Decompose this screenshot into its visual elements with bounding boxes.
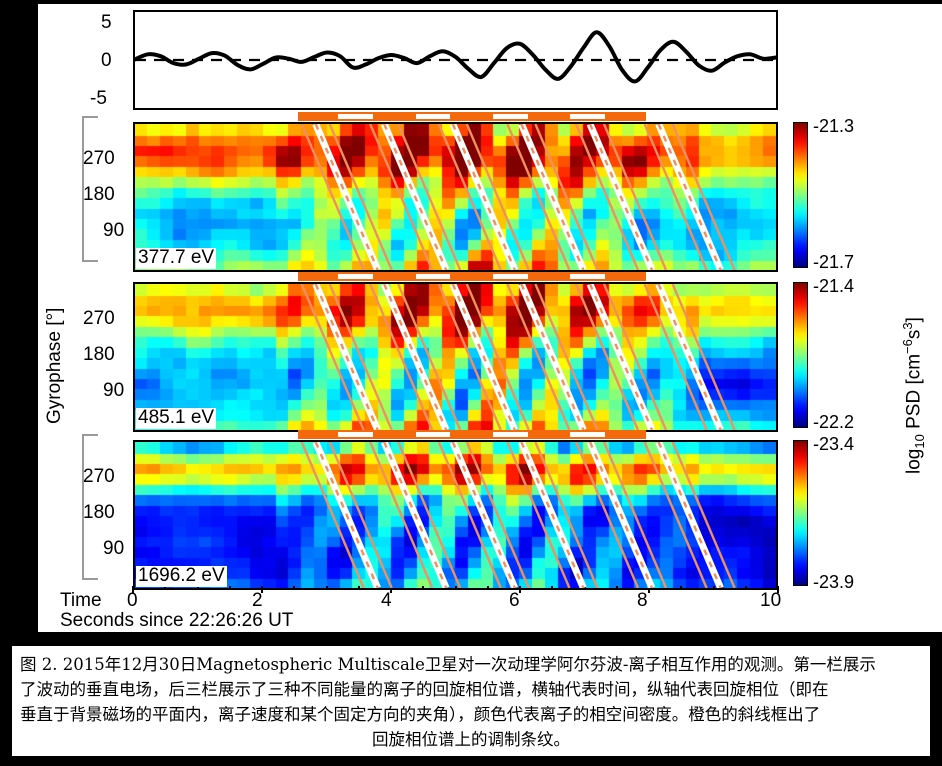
- marker-segment: [491, 430, 530, 439]
- spectrogram-panel-485[interactable]: 485.1 eV: [133, 282, 778, 432]
- stripe-overlay: [135, 124, 776, 270]
- panel2-ytick-270: 270: [83, 308, 115, 330]
- marker-segment: [298, 112, 337, 121]
- marker-bar-panel-3: [133, 430, 778, 439]
- caption-box: 图 2. 2015年12月30日Magnetospheric Multiscal…: [12, 646, 930, 756]
- caption-line-1: 图 2. 2015年12月30日Magnetospheric Multiscal…: [20, 652, 922, 677]
- marker-segment: [336, 430, 375, 439]
- xtick-10: 10: [760, 590, 781, 612]
- colorbar-min-485: -22.2: [813, 412, 854, 433]
- energy-label: 1696.2 eV: [136, 566, 227, 587]
- caption-line-2: 了波动的垂直电场，后三栏展示了三种不同能量的离子的回旋相位谱，横轴代表时间，纵轴…: [20, 677, 922, 702]
- xtick-4: 4: [381, 590, 392, 612]
- marker-segment: [568, 272, 607, 281]
- spectrogram-panel-377[interactable]: 377.7 eV: [133, 122, 778, 272]
- axis-tick: [777, 586, 779, 593]
- marker-segment: [530, 272, 569, 281]
- energy-label: 377.7 eV: [136, 248, 216, 269]
- marker-segment: [530, 112, 569, 121]
- marker-segment: [491, 112, 530, 121]
- panel3-ytick-270: 270: [83, 466, 115, 488]
- xtick-2: 2: [252, 590, 263, 612]
- wave-ytick-0: 0: [101, 50, 112, 72]
- wave-ytick-5: 5: [101, 12, 112, 34]
- panel2-ytick-90: 90: [103, 380, 124, 402]
- colorbar-panel-377: [793, 122, 808, 268]
- time-label: Time: [60, 590, 102, 612]
- marker-segment: [298, 272, 337, 281]
- marker-segment: [336, 272, 375, 281]
- waveform-plot: [135, 12, 776, 108]
- panel3-ytick-180: 180: [83, 502, 115, 524]
- wave-ytick-neg5: -5: [90, 88, 107, 110]
- colorbar-axis-label: log10 PSD [cm−6s3]: [900, 317, 927, 474]
- marker-segment: [568, 430, 607, 439]
- xtick-0: 0: [127, 590, 138, 612]
- panel1-ytick-270: 270: [83, 148, 115, 170]
- panel3-ytick-90: 90: [103, 538, 124, 560]
- panel2-ytick-180: 180: [83, 344, 115, 366]
- colorbar-min-377: -21.7: [813, 252, 854, 273]
- marker-segment: [414, 430, 453, 439]
- colorbar-panel-485: [793, 282, 808, 428]
- caption-line-3: 垂直于背景磁场的平面内，离子速度和某个固定方向的夹角），颜色代表离子的相空间密度…: [20, 702, 922, 727]
- xtick-6: 6: [509, 590, 520, 612]
- marker-segment: [375, 112, 414, 121]
- marker-segment: [414, 272, 453, 281]
- marker-segment: [452, 112, 491, 121]
- marker-bar-panel-2: [133, 272, 778, 281]
- marker-segment: [530, 430, 569, 439]
- colorbar-max-1696: -23.4: [813, 434, 854, 455]
- wave-ylabel: E⊥1 [mV/m]: [10, 0, 35, 60]
- marker-segment: [452, 272, 491, 281]
- marker-segment: [607, 272, 646, 281]
- panel1-ytick-90: 90: [103, 220, 124, 242]
- stripe-overlay: [135, 442, 776, 588]
- colorbar-max-377: -21.3: [813, 116, 854, 137]
- gyrophase-axis-label: Gyrophase [°]: [44, 308, 66, 424]
- colorbar-max-485: -21.4: [813, 276, 854, 297]
- energy-label: 485.1 eV: [136, 408, 216, 429]
- marker-segment: [607, 112, 646, 121]
- marker-segment: [336, 112, 375, 121]
- marker-segment: [375, 272, 414, 281]
- axis-tick: [132, 586, 134, 593]
- panel1-ytick-180: 180: [83, 184, 115, 206]
- colorbar-min-1696: -23.9: [813, 572, 854, 593]
- marker-segment: [491, 272, 530, 281]
- marker-segment: [298, 430, 337, 439]
- spectrogram-panel-1696[interactable]: 1696.2 eV: [133, 440, 778, 590]
- marker-segment: [375, 430, 414, 439]
- colorbar-panel-1696: [793, 440, 808, 586]
- marker-segment: [607, 430, 646, 439]
- xaxis-subtitle: Seconds since 22:26:26 UT: [60, 610, 293, 632]
- marker-segment: [568, 112, 607, 121]
- waveform-panel: [133, 10, 778, 110]
- marker-segment: [414, 112, 453, 121]
- figure-root: E⊥1 [mV/m] 5 0 -5 Gyrophase [°] 377.7 eV…: [0, 0, 942, 766]
- marker-segment: [452, 430, 491, 439]
- xtick-8: 8: [637, 590, 648, 612]
- efield-trace: [135, 32, 776, 81]
- marker-bar-panel-1: [133, 112, 778, 121]
- stripe-overlay: [135, 284, 776, 430]
- figure-canvas: E⊥1 [mV/m] 5 0 -5 Gyrophase [°] 377.7 eV…: [38, 4, 942, 632]
- caption-line-4: 回旋相位谱上的调制条纹。: [20, 727, 922, 752]
